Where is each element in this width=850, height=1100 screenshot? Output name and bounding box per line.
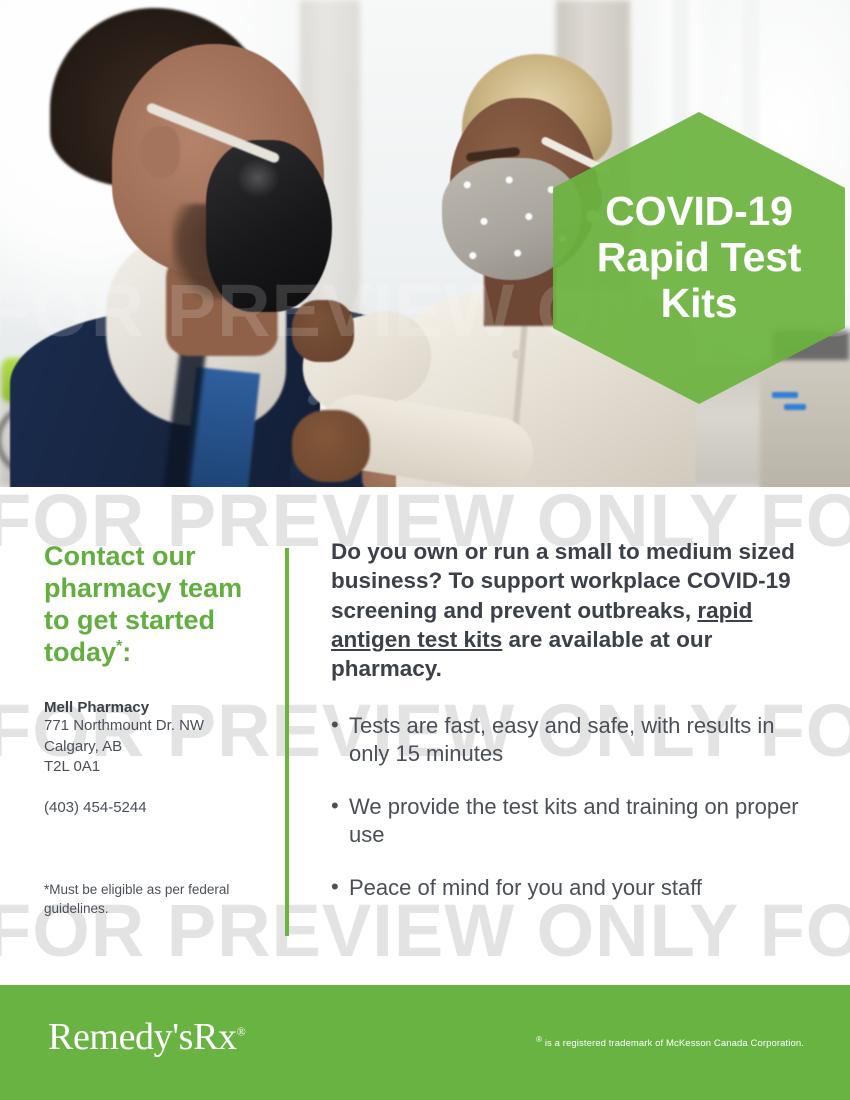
body-column: Do you own or run a small to medium size… [331,537,801,927]
pharmacy-name: Mell Pharmacy [44,699,259,716]
flyer-page: FOR PREVIEW ONLY FOR PREVIEW ONLY FOR PR… [0,0,850,1100]
list-item: We provide the test kits and training on… [331,793,801,849]
man-ear [140,126,180,178]
badge-text: COVID-19 Rapid Test Kits [583,189,816,327]
contact-heading: Contact our pharmacy team to get started… [44,541,259,668]
list-item: Tests are fast, easy and safe, with resu… [331,712,801,768]
address-line-2: Calgary, AB [44,737,259,757]
contact-heading-text: Contact our pharmacy team to get started… [44,541,242,667]
intro-paragraph: Do you own or run a small to medium size… [331,537,801,683]
badge-line-3: Kits [597,281,802,327]
remedysrx-logo: Remedy'sRx® [48,1015,246,1059]
indicator-light-1 [772,392,798,398]
address-line-3: T2L 0A1 [44,757,259,777]
badge-line-2: Rapid Test [597,235,802,281]
registered-trademark-icon: ® [237,1024,246,1038]
benefits-list: Tests are fast, easy and safe, with resu… [331,712,801,902]
content-area: Contact our pharmacy team to get started… [0,487,850,968]
contact-column: Contact our pharmacy team to get started… [44,541,259,818]
woman-extended-fist [292,410,370,482]
footer-bar: Remedy'sRx® ® is a registered trademark … [0,985,850,1100]
eligibility-footnote: *Must be eligible as per federal guideli… [44,881,244,918]
list-item: Peace of mind for you and your staff [331,874,801,902]
address-line-1: 771 Northmount Dr. NW [44,716,259,736]
woman-blouse-button [512,350,521,359]
logo-wordmark: Remedy'sRx [48,1016,237,1058]
column-divider [285,548,289,936]
indicator-light-2 [784,404,806,410]
badge-line-1: COVID-19 [597,189,802,235]
woman-raised-fist [292,300,354,362]
trademark-note-text: is a registered trademark of McKesson Ca… [542,1038,804,1049]
trademark-note: ® is a registered trademark of McKesson … [536,1035,804,1049]
phone-number: (403) 454-5244 [44,798,259,818]
heading-colon: : [122,637,131,667]
man-mask-highlight [236,158,280,198]
counter-unit [760,360,850,487]
